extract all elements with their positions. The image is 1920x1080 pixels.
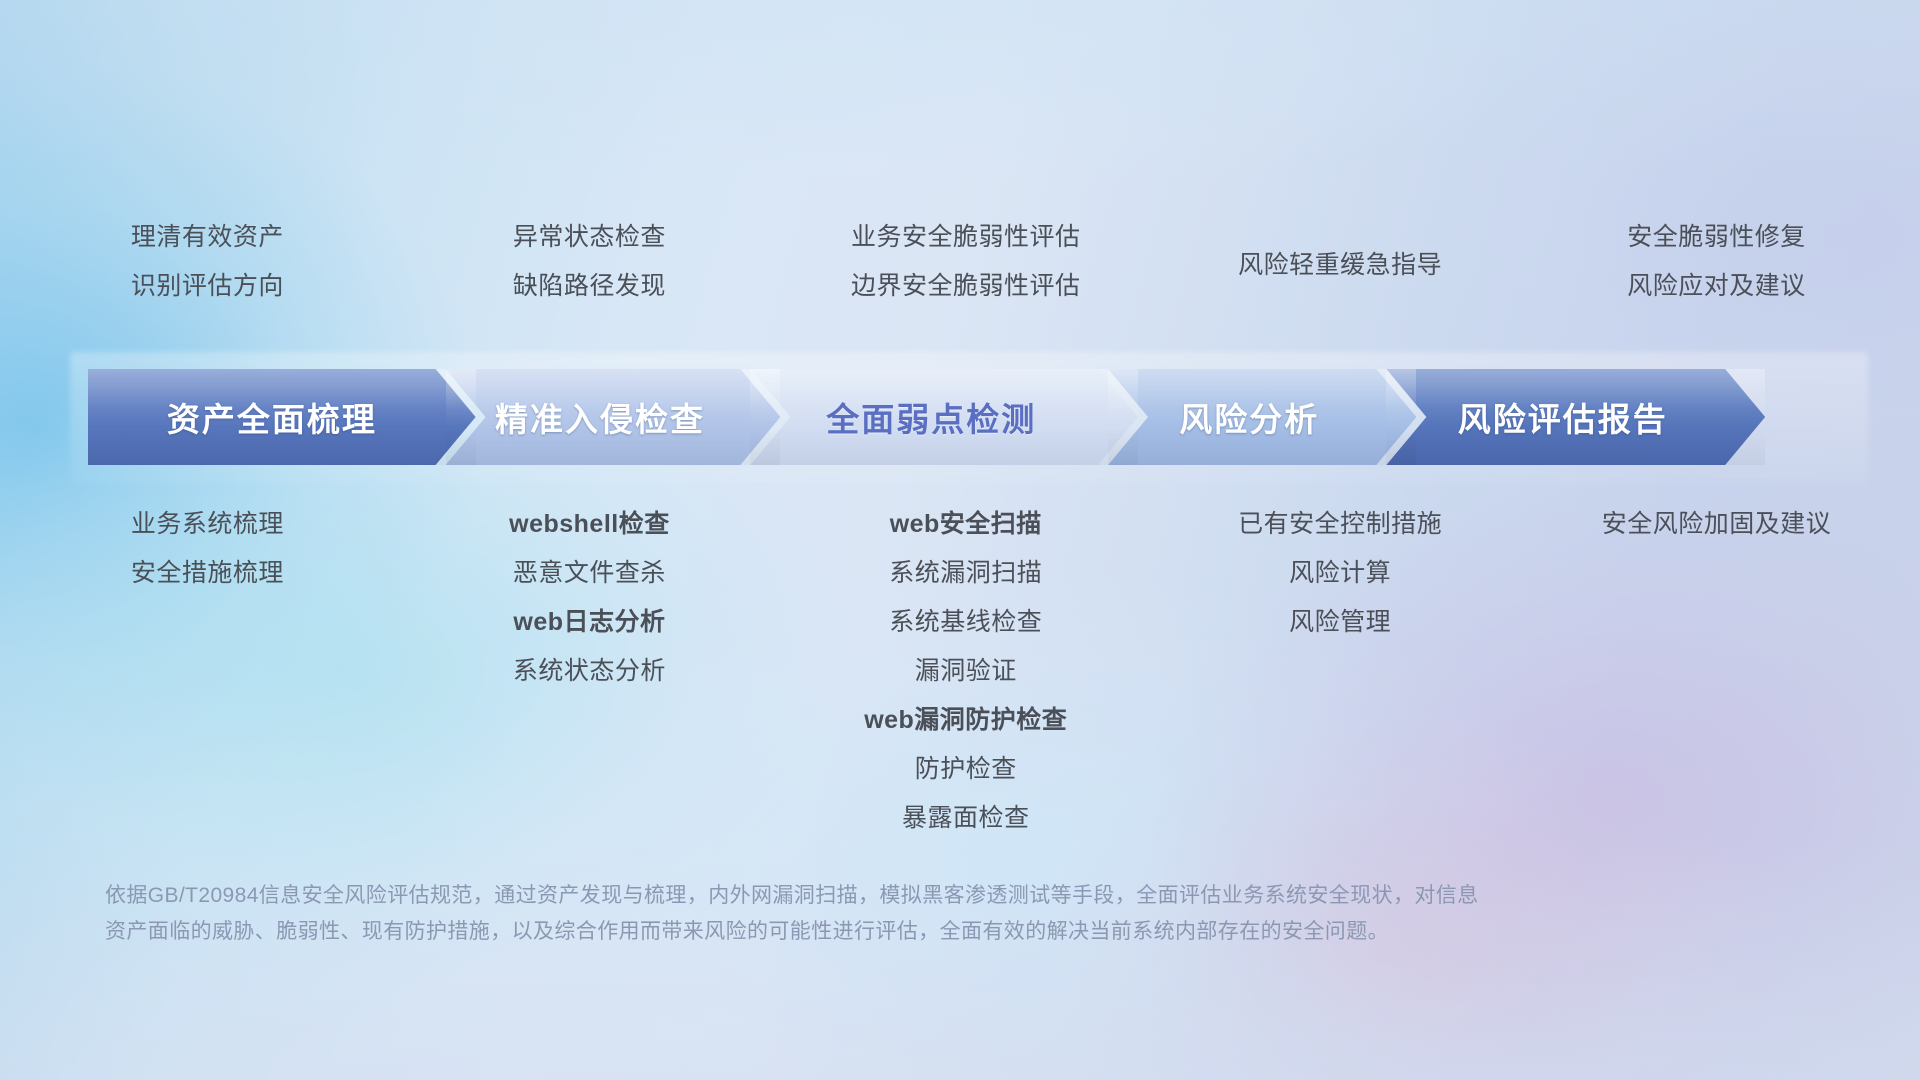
top-item: 异常状态检查 <box>513 225 666 250</box>
top-column-risk-report: 安全脆弱性修复 风险应对及建议 <box>1513 225 1920 335</box>
list-item: webshell检查 <box>509 512 670 537</box>
list-item: 漏洞验证 <box>915 659 1017 684</box>
top-item: 识别评估方向 <box>131 274 284 299</box>
list-item: 系统基线检查 <box>889 610 1042 635</box>
process-arrow-band: 资产全面梳理 精准入侵检查 全面弱点检测 风险分析 风险评估报告 <box>88 369 1850 465</box>
bottom-column-risk-report: 安全风险加固及建议 <box>1513 512 1920 842</box>
stage-arrow-intrusion-check[interactable]: 精准入侵检查 <box>446 369 781 465</box>
bottom-column-intrusion-check: webshell检查 恶意文件查杀 web日志分析 系统状态分析 <box>415 512 764 842</box>
list-item: 安全措施梳理 <box>131 561 284 586</box>
list-item: web漏洞防护检查 <box>864 708 1067 733</box>
top-label-row: 理清有效资产 识别评估方向 异常状态检查 缺陷路径发现 业务安全脆弱性评估 边界… <box>0 225 1920 335</box>
stage-arrow-risk-analysis[interactable]: 风险分析 <box>1108 369 1416 465</box>
top-item: 业务安全脆弱性评估 <box>851 225 1081 250</box>
bottom-column-asset-inventory: 业务系统梳理 安全措施梳理 <box>0 512 415 842</box>
top-item: 缺陷路径发现 <box>513 274 666 299</box>
list-item: 风险计算 <box>1289 561 1391 586</box>
stage-label: 风险评估报告 <box>1458 393 1694 441</box>
list-item: web日志分析 <box>513 610 665 635</box>
list-item: web安全扫描 <box>890 512 1042 537</box>
top-item: 风险应对及建议 <box>1627 274 1806 299</box>
list-item: 业务系统梳理 <box>131 512 284 537</box>
stage-label: 风险分析 <box>1179 393 1345 441</box>
list-item: 暴露面检查 <box>902 806 1030 831</box>
stage-arrow-weakness-detection[interactable]: 全面弱点检测 <box>750 369 1138 465</box>
top-item: 安全脆弱性修复 <box>1627 225 1806 250</box>
footer-line-2: 资产面临的威胁、脆弱性、现有防护措施，以及综合作用而带来风险的可能性进行评估，全… <box>105 914 1815 950</box>
top-column-intrusion-check: 异常状态检查 缺陷路径发现 <box>415 225 764 335</box>
stage-label: 全面弱点检测 <box>826 393 1062 441</box>
list-item: 系统漏洞扫描 <box>889 561 1042 586</box>
stage-label: 资产全面梳理 <box>157 393 407 441</box>
list-item: 安全风险加固及建议 <box>1602 512 1832 537</box>
list-item: 系统状态分析 <box>513 659 666 684</box>
bottom-column-risk-analysis: 已有安全控制措施 风险计算 风险管理 <box>1167 512 1513 842</box>
top-item: 边界安全脆弱性评估 <box>851 274 1081 299</box>
top-column-asset-inventory: 理清有效资产 识别评估方向 <box>0 225 415 335</box>
stage-label: 精准入侵检查 <box>495 393 731 441</box>
footer-line-1: 依据GB/T20984信息安全风险评估规范，通过资产发现与梳理，内外网漏洞扫描，… <box>105 878 1815 914</box>
footer-description: 依据GB/T20984信息安全风险评估规范，通过资产发现与梳理，内外网漏洞扫描，… <box>105 878 1815 950</box>
infographic-stage: 理清有效资产 识别评估方向 异常状态检查 缺陷路径发现 业务安全脆弱性评估 边界… <box>0 0 1920 1080</box>
top-column-risk-analysis: 风险轻重缓急指导 <box>1167 225 1513 335</box>
top-item: 理清有效资产 <box>131 225 284 250</box>
list-item: 已有安全控制措施 <box>1238 512 1442 537</box>
stage-arrow-risk-report[interactable]: 风险评估报告 <box>1386 369 1765 465</box>
list-item: 风险管理 <box>1289 610 1391 635</box>
stage-arrow-asset-inventory[interactable]: 资产全面梳理 <box>88 369 476 465</box>
bottom-list-row: 业务系统梳理 安全措施梳理 webshell检查 恶意文件查杀 web日志分析 … <box>0 512 1920 842</box>
bottom-column-weakness-detection: web安全扫描 系统漏洞扫描 系统基线检查 漏洞验证 web漏洞防护检查 防护检… <box>764 512 1167 842</box>
list-item: 恶意文件查杀 <box>513 561 666 586</box>
top-column-weakness-detection: 业务安全脆弱性评估 边界安全脆弱性评估 <box>764 225 1167 335</box>
top-item: 风险轻重缓急指导 <box>1238 253 1442 278</box>
list-item: 防护检查 <box>915 757 1017 782</box>
